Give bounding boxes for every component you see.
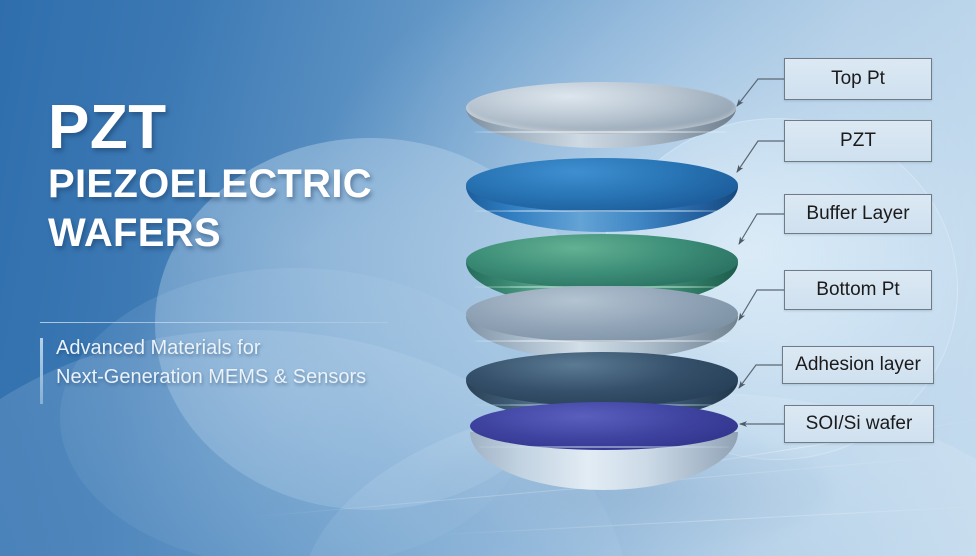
wafer-layer-pzt[interactable] bbox=[466, 158, 738, 244]
callout-label-adhesion-layer[interactable]: Adhesion layer bbox=[782, 346, 934, 384]
wafer-layer-top-pt[interactable] bbox=[466, 82, 736, 160]
callout-label-soi-si-wafer[interactable]: SOI/Si wafer bbox=[784, 405, 934, 443]
callout-label-top-pt[interactable]: Top Pt bbox=[784, 58, 932, 100]
callout-label-pzt[interactable]: PZT bbox=[784, 120, 932, 162]
wafer-layer-soi-si[interactable] bbox=[470, 402, 738, 502]
callout-label-buffer-layer[interactable]: Buffer Layer bbox=[784, 194, 932, 234]
callout-label-bottom-pt[interactable]: Bottom Pt bbox=[784, 270, 932, 310]
poster-canvas: PZT PIEZOELECTRIC WAFERS Advanced Materi… bbox=[0, 0, 976, 556]
